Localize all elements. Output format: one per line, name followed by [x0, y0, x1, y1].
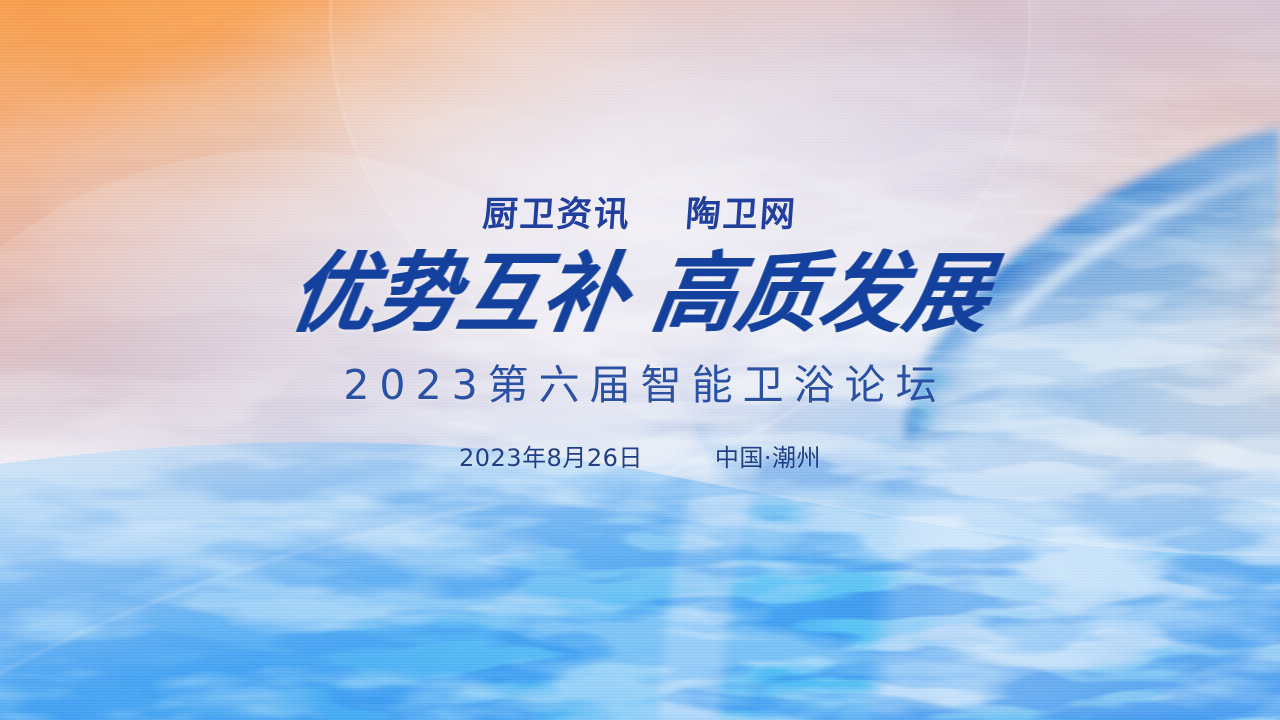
- event-date: 2023年8月26日: [459, 438, 643, 473]
- event-location: 中国·潮州: [715, 438, 821, 473]
- headline-part-2: 高质发展: [645, 243, 997, 345]
- brand-name-right: 陶卫网: [684, 186, 799, 237]
- headline-part-1: 优势互补: [283, 243, 635, 345]
- brand-row: 厨卫资讯 陶卫网: [483, 186, 796, 237]
- poster-content: 厨卫资讯 陶卫网 优势互补高质发展 2023第六届智能卫浴论坛 2023年8月2…: [0, 0, 1280, 720]
- subtitle: 2023第六届智能卫浴论坛: [333, 351, 946, 411]
- brand-name-left: 厨卫资讯: [482, 186, 634, 237]
- poster-canvas: 厨卫资讯 陶卫网 优势互补高质发展 2023第六届智能卫浴论坛 2023年8月2…: [0, 0, 1280, 720]
- meta-row: 2023年8月26日 中国·潮州: [459, 438, 821, 473]
- headline: 优势互补高质发展: [284, 249, 996, 340]
